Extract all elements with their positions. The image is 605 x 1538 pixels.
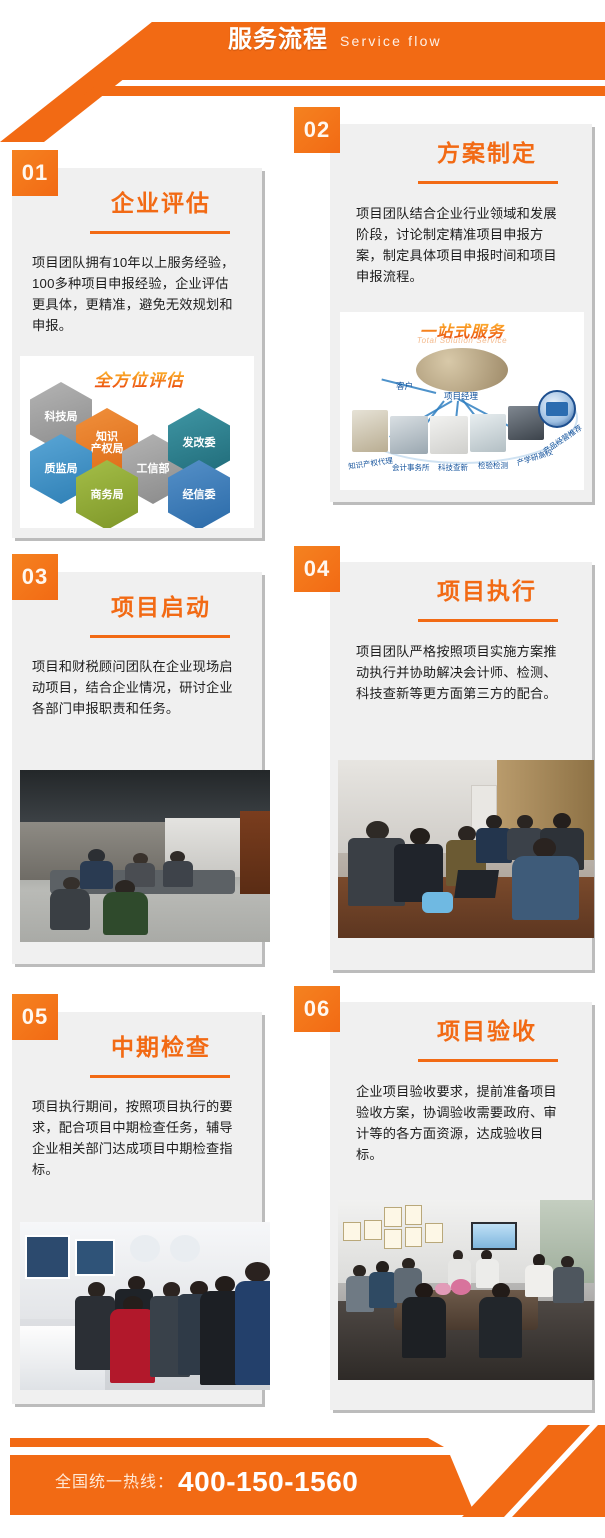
card-04-title: 项目执行 [392, 580, 582, 603]
footer-diagonal-accent [400, 1425, 605, 1517]
service-node-tech-search: 科技查新 [438, 462, 468, 473]
card-02-title-rule [418, 181, 558, 184]
header-underline-stripe [0, 86, 605, 96]
card-05-title: 中期检查 [70, 1036, 252, 1059]
hotline-label: 全国统一热线： [55, 1475, 174, 1491]
card-02-illustration: 一站式服务 Total Solution Service 客户 项目经理 知识产… [340, 312, 584, 490]
service-thumb-2 [390, 416, 428, 454]
card-06-number-badge: 06 [294, 986, 340, 1032]
service-certification-seal [538, 390, 576, 428]
page-title: 服务流程 [228, 28, 328, 52]
card-04-number-badge: 04 [294, 546, 340, 592]
card-03-body: 项目和财税顾问团队在企业现场启动项目，结合企业情况，研讨企业各部门申报职责和任务… [32, 657, 240, 720]
card-01-number-badge: 01 [12, 150, 58, 196]
service-node-inspection: 检验检测 [478, 460, 508, 471]
service-thumb-3 [430, 416, 468, 454]
card-06-title: 项目验收 [392, 1020, 582, 1043]
card-03-photo [20, 770, 270, 942]
service-thumb-4 [470, 414, 506, 452]
card-03-number-badge: 03 [12, 554, 58, 600]
service-diagram-subtitle: Total Solution Service [340, 336, 584, 345]
card-04-title-rule [418, 619, 558, 622]
card-05-title-rule [90, 1075, 230, 1078]
service-node-customer: 客户 [396, 380, 413, 392]
card-01-title-rule [90, 231, 230, 234]
card-01: 企业评估 项目团队拥有10年以上服务经验，100多种项目申报经验，企业评估更具体… [12, 168, 262, 538]
card-02: 方案制定 项目团队结合企业行业领域和发展阶段，讨论制定精准项目申报方案，制定具体… [330, 124, 592, 502]
card-06-photo [338, 1200, 594, 1380]
page-subtitle: Service flow [340, 34, 442, 48]
service-node-ip-agency: 知识产权代理 [347, 455, 393, 472]
service-flow-infographic: 服务流程 Service flow 企业评估 项目团队拥有10年以上服务经验，1… [0, 0, 605, 1538]
card-05: 中期检查 项目执行期间，按照项目执行的要求，配合项目中期检查任务，辅导企业相关部… [12, 1012, 262, 1404]
card-04-photo [338, 760, 594, 938]
service-node-manager: 项目经理 [444, 390, 478, 402]
card-01-title: 企业评估 [70, 192, 252, 215]
card-06-title-rule [418, 1059, 558, 1062]
card-05-body: 项目执行期间，按照项目执行的要求，配合项目中期检查任务，辅导企业相关部门达成项目… [32, 1097, 240, 1180]
card-01-illustration: 全方位评估 科技局 知识 产权局 质监局 工信部 商务局 发改委 经信委 [20, 356, 254, 528]
service-node-accounting: 会计事务所 [392, 462, 430, 473]
card-05-photo [20, 1222, 270, 1390]
card-02-title: 方案制定 [392, 142, 582, 165]
card-03: 项目启动 项目和财税顾问团队在企业现场启动项目，结合企业情况，研讨企业各部门申报… [12, 572, 262, 964]
card-02-body: 项目团队结合企业行业领域和发展阶段，讨论制定精准项目申报方案，制定具体项目申报时… [356, 204, 568, 287]
card-03-title: 项目启动 [70, 596, 252, 619]
card-04-body: 项目团队严格按照项目实施方案推动执行并协助解决会计师、检测、科技查新等更方面第三… [356, 642, 568, 705]
card-06: 项目验收 企业项目验收要求，提前准备项目验收方案，协调验收需要政府、审计等的各方… [330, 1002, 592, 1410]
service-thumb-1 [352, 410, 388, 452]
card-05-number-badge: 05 [12, 994, 58, 1040]
card-03-title-rule [90, 635, 230, 638]
card-04: 项目执行 项目团队严格按照项目实施方案推动执行并协助解决会计师、检测、科技查新等… [330, 562, 592, 970]
hotline-phone-number[interactable]: 400-150-1560 [178, 1468, 358, 1496]
card-02-number-badge: 02 [294, 107, 340, 153]
card-01-body: 项目团队拥有10年以上服务经验，100多种项目申报经验，企业评估更具体，更精准，… [32, 253, 240, 336]
card-06-body: 企业项目验收要求，提前准备项目验收方案，协调验收需要政府、审计等的各方面资源，达… [356, 1082, 568, 1165]
hex-diagram-title: 全方位评估 [94, 366, 184, 391]
